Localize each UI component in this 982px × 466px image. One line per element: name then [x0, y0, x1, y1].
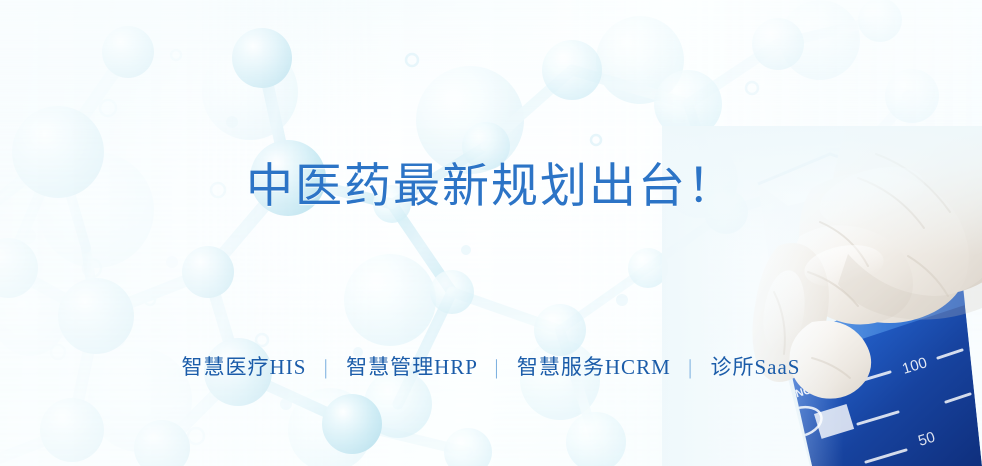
page-title: 中医药最新规划出台！	[0, 158, 982, 216]
product-separator-1: |	[313, 355, 340, 379]
molecular-background	[0, 0, 982, 466]
product-item-hrp[interactable]: 智慧管理HRP	[346, 355, 477, 379]
product-item-his[interactable]: 智慧医疗HIS	[182, 355, 307, 379]
product-separator-2: |	[483, 355, 510, 379]
product-list: 智慧医疗HIS | 智慧管理HRP | 智慧服务HCRM | 诊所SaaS	[0, 352, 982, 382]
molecule-lattice-svg	[0, 0, 982, 466]
product-item-hcrm[interactable]: 智慧服务HCRM	[517, 355, 671, 379]
hero-banner: 100 50 FONG	[0, 0, 982, 466]
product-item-saas[interactable]: 诊所SaaS	[710, 355, 800, 379]
product-separator-3: |	[677, 355, 704, 379]
